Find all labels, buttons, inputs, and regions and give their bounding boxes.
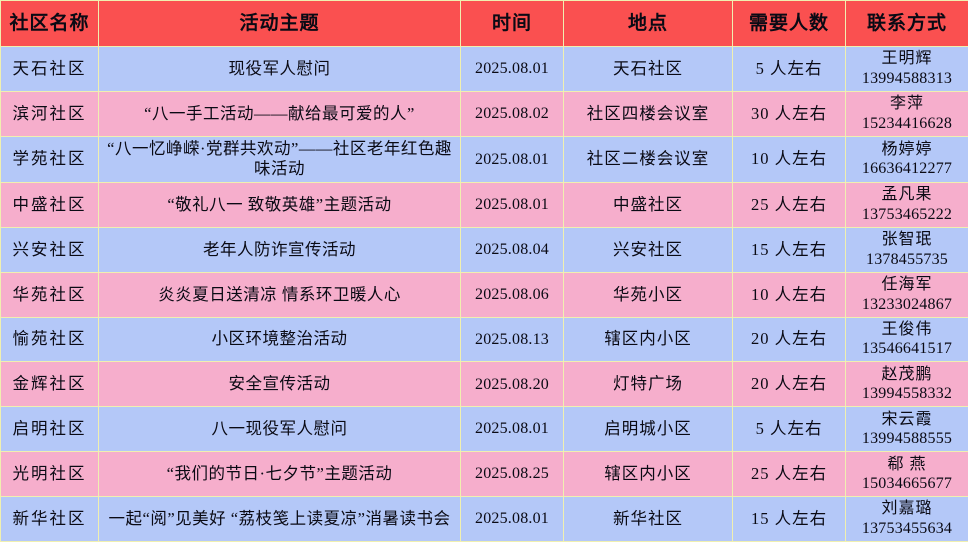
contact-name: 孟凡果 bbox=[850, 185, 964, 205]
table-row: 愉苑社区小区环境整治活动2025.08.13辖区内小区20 人左右王俊伟1354… bbox=[1, 317, 968, 362]
contact-name: 杨婷婷 bbox=[850, 140, 964, 160]
column-header-community: 社区名称 bbox=[1, 1, 99, 47]
cell-people: 20 人左右 bbox=[733, 362, 846, 407]
cell-people: 10 人左右 bbox=[733, 272, 846, 317]
contact-phone: 16636412277 bbox=[850, 159, 964, 179]
cell-community: 光明社区 bbox=[1, 452, 99, 497]
cell-contact: 王俊伟13546641517 bbox=[846, 317, 968, 362]
table-row: 学苑社区“八一忆峥嵘·党群共欢动”——社区老年红色趣味活动2025.08.01社… bbox=[1, 136, 968, 182]
cell-time: 2025.08.01 bbox=[461, 182, 564, 227]
contact-phone: 13994588555 bbox=[850, 429, 964, 449]
cell-time: 2025.08.01 bbox=[461, 407, 564, 452]
table-row: 金辉社区安全宣传活动2025.08.20灯特广场20 人左右赵茂鹏1399455… bbox=[1, 362, 968, 407]
cell-contact: 刘嘉璐13753455634 bbox=[846, 497, 968, 542]
contact-phone: 13233024867 bbox=[850, 295, 964, 315]
contact-name: 宋云霞 bbox=[850, 410, 964, 430]
cell-theme: “八一忆峥嵘·党群共欢动”——社区老年红色趣味活动 bbox=[99, 136, 461, 182]
cell-location: 社区四楼会议室 bbox=[564, 91, 733, 136]
cell-location: 中盛社区 bbox=[564, 182, 733, 227]
cell-people: 5 人左右 bbox=[733, 407, 846, 452]
column-header-contact: 联系方式 bbox=[846, 1, 968, 47]
cell-community: 金辉社区 bbox=[1, 362, 99, 407]
contact-phone: 13753465222 bbox=[850, 205, 964, 225]
cell-contact: 郗 燕15034665677 bbox=[846, 452, 968, 497]
cell-location: 辖区内小区 bbox=[564, 317, 733, 362]
cell-theme: 八一现役军人慰问 bbox=[99, 407, 461, 452]
cell-contact: 王明辉13994588313 bbox=[846, 47, 968, 92]
column-header-location: 地点 bbox=[564, 1, 733, 47]
cell-community: 愉苑社区 bbox=[1, 317, 99, 362]
cell-people: 25 人左右 bbox=[733, 182, 846, 227]
cell-time: 2025.08.01 bbox=[461, 47, 564, 92]
cell-people: 20 人左右 bbox=[733, 317, 846, 362]
cell-time: 2025.08.04 bbox=[461, 227, 564, 272]
cell-people: 15 人左右 bbox=[733, 497, 846, 542]
cell-contact: 宋云霞13994588555 bbox=[846, 407, 968, 452]
table-row: 华苑社区炎炎夏日送清凉 情系环卫暖人心2025.08.06华苑小区10 人左右任… bbox=[1, 272, 968, 317]
contact-name: 张智珉 bbox=[850, 230, 964, 250]
cell-contact: 张智珉1378455735 bbox=[846, 227, 968, 272]
cell-theme: “八一手工活动——献给最可爱的人” bbox=[99, 91, 461, 136]
column-header-people: 需要人数 bbox=[733, 1, 846, 47]
cell-people: 10 人左右 bbox=[733, 136, 846, 182]
cell-people: 25 人左右 bbox=[733, 452, 846, 497]
cell-theme: 小区环境整治活动 bbox=[99, 317, 461, 362]
cell-location: 灯特广场 bbox=[564, 362, 733, 407]
cell-theme: 安全宣传活动 bbox=[99, 362, 461, 407]
contact-phone: 13994588313 bbox=[850, 69, 964, 89]
table-header: 社区名称 活动主题 时间 地点 需要人数 联系方式 bbox=[1, 1, 968, 47]
contact-phone: 13994558332 bbox=[850, 384, 964, 404]
table-row: 新华社区一起“阅”见美好 “荔枝笺上读夏凉”消暑读书会2025.08.01新华社… bbox=[1, 497, 968, 542]
contact-name: 李萍 bbox=[850, 94, 964, 114]
cell-time: 2025.08.01 bbox=[461, 136, 564, 182]
table-row: 光明社区“我们的节日·七夕节”主题活动2025.08.25辖区内小区25 人左右… bbox=[1, 452, 968, 497]
table-row: 中盛社区“敬礼八一 致敬英雄”主题活动2025.08.01中盛社区25 人左右孟… bbox=[1, 182, 968, 227]
contact-name: 王明辉 bbox=[850, 49, 964, 69]
contact-phone: 13753455634 bbox=[850, 519, 964, 539]
cell-location: 辖区内小区 bbox=[564, 452, 733, 497]
contact-name: 任海军 bbox=[850, 275, 964, 295]
cell-community: 华苑社区 bbox=[1, 272, 99, 317]
table-header-row: 社区名称 活动主题 时间 地点 需要人数 联系方式 bbox=[1, 1, 968, 47]
cell-contact: 杨婷婷16636412277 bbox=[846, 136, 968, 182]
cell-theme: 一起“阅”见美好 “荔枝笺上读夏凉”消暑读书会 bbox=[99, 497, 461, 542]
cell-community: 滨河社区 bbox=[1, 91, 99, 136]
cell-people: 15 人左右 bbox=[733, 227, 846, 272]
cell-location: 天石社区 bbox=[564, 47, 733, 92]
cell-location: 兴安社区 bbox=[564, 227, 733, 272]
cell-location: 新华社区 bbox=[564, 497, 733, 542]
cell-people: 5 人左右 bbox=[733, 47, 846, 92]
cell-time: 2025.08.01 bbox=[461, 497, 564, 542]
cell-contact: 赵茂鹏13994558332 bbox=[846, 362, 968, 407]
contact-phone: 1378455735 bbox=[850, 250, 964, 270]
cell-theme: “敬礼八一 致敬英雄”主题活动 bbox=[99, 182, 461, 227]
contact-name: 赵茂鹏 bbox=[850, 365, 964, 385]
cell-location: 启明城小区 bbox=[564, 407, 733, 452]
cell-contact: 孟凡果13753465222 bbox=[846, 182, 968, 227]
cell-time: 2025.08.13 bbox=[461, 317, 564, 362]
cell-time: 2025.08.20 bbox=[461, 362, 564, 407]
cell-theme: 老年人防诈宣传活动 bbox=[99, 227, 461, 272]
contact-name: 王俊伟 bbox=[850, 320, 964, 340]
table-row: 滨河社区“八一手工活动——献给最可爱的人”2025.08.02社区四楼会议室30… bbox=[1, 91, 968, 136]
cell-location: 社区二楼会议室 bbox=[564, 136, 733, 182]
cell-people: 30 人左右 bbox=[733, 91, 846, 136]
cell-community: 新华社区 bbox=[1, 497, 99, 542]
cell-time: 2025.08.25 bbox=[461, 452, 564, 497]
table-row: 兴安社区老年人防诈宣传活动2025.08.04兴安社区15 人左右张智珉1378… bbox=[1, 227, 968, 272]
contact-name: 刘嘉璐 bbox=[850, 499, 964, 519]
contact-name: 郗 燕 bbox=[850, 455, 964, 475]
cell-community: 兴安社区 bbox=[1, 227, 99, 272]
contact-phone: 13546641517 bbox=[850, 339, 964, 359]
cell-community: 天石社区 bbox=[1, 47, 99, 92]
cell-theme: “我们的节日·七夕节”主题活动 bbox=[99, 452, 461, 497]
cell-time: 2025.08.02 bbox=[461, 91, 564, 136]
column-header-theme: 活动主题 bbox=[99, 1, 461, 47]
cell-theme: 现役军人慰问 bbox=[99, 47, 461, 92]
table-row: 天石社区现役军人慰问2025.08.01天石社区5 人左右王明辉13994588… bbox=[1, 47, 968, 92]
cell-contact: 李萍15234416628 bbox=[846, 91, 968, 136]
table-body: 天石社区现役军人慰问2025.08.01天石社区5 人左右王明辉13994588… bbox=[1, 47, 968, 542]
contact-phone: 15034665677 bbox=[850, 474, 964, 494]
contact-phone: 15234416628 bbox=[850, 114, 964, 134]
cell-time: 2025.08.06 bbox=[461, 272, 564, 317]
community-activity-table: 社区名称 活动主题 时间 地点 需要人数 联系方式 天石社区现役军人慰问2025… bbox=[0, 0, 968, 542]
cell-theme: 炎炎夏日送清凉 情系环卫暖人心 bbox=[99, 272, 461, 317]
column-header-time: 时间 bbox=[461, 1, 564, 47]
cell-contact: 任海军13233024867 bbox=[846, 272, 968, 317]
cell-community: 中盛社区 bbox=[1, 182, 99, 227]
cell-location: 华苑小区 bbox=[564, 272, 733, 317]
cell-community: 学苑社区 bbox=[1, 136, 99, 182]
table-row: 启明社区八一现役军人慰问2025.08.01启明城小区5 人左右宋云霞13994… bbox=[1, 407, 968, 452]
cell-community: 启明社区 bbox=[1, 407, 99, 452]
